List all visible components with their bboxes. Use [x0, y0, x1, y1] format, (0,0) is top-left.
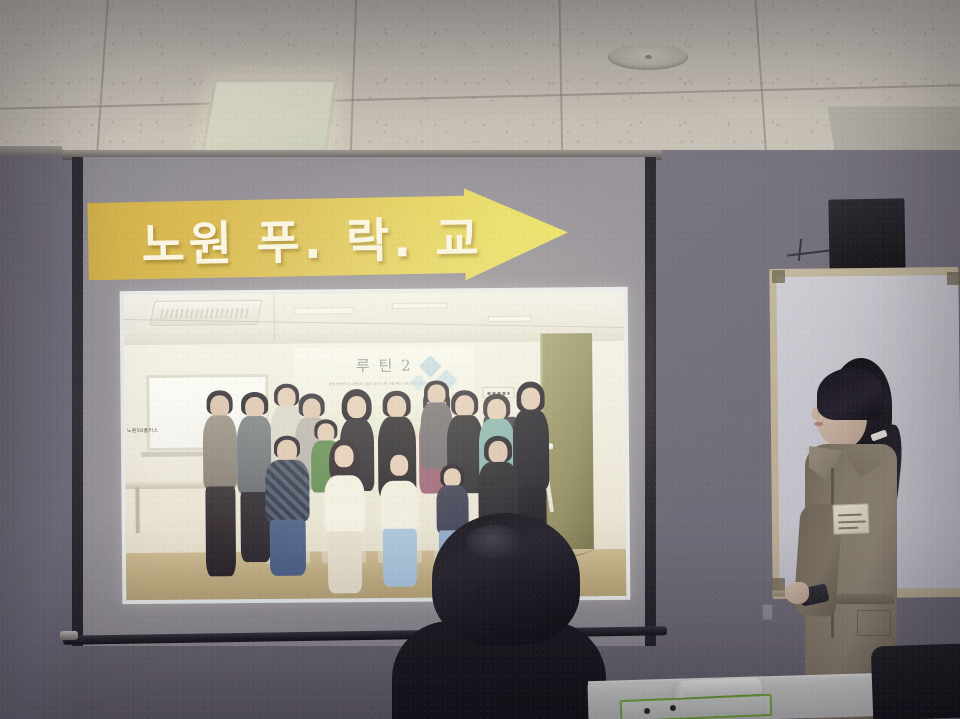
- photo-person: [203, 390, 239, 580]
- name-tag-text-line: [838, 514, 862, 517]
- photo-ceiling-lamp: [391, 302, 448, 308]
- presenter-name-tag: [832, 503, 869, 534]
- photo-ceiling-lamp: [488, 316, 533, 322]
- audience-member: [392, 513, 606, 719]
- audience-hair-highlight: [466, 525, 522, 559]
- photo-ceiling-lamp: [293, 307, 354, 315]
- screen-bar-end-cap: [60, 631, 78, 640]
- whiteboard-corner-bracket: [947, 272, 960, 285]
- presentation-room-scene: 노원 푸. 락. 교 노원50플러스 루 틴 2 함께 만들어가는 배움과 나눔…: [0, 0, 960, 719]
- name-tag-text-line: [838, 527, 858, 530]
- presenter-mouth: [814, 422, 823, 426]
- photo-air-conditioner: [149, 300, 262, 326]
- folder-clip: [670, 705, 676, 711]
- slide-title-banner: 노원 푸. 락. 교: [88, 191, 568, 283]
- ceiling-speaker-icon: [608, 44, 688, 70]
- wall-socket: [762, 604, 773, 620]
- screen-right-border: [645, 157, 656, 646]
- presenter-coat-pocket: [857, 610, 891, 636]
- screen-roller-mount: [0, 146, 62, 155]
- name-tag-text-line: [838, 520, 866, 523]
- presenter-hand: [785, 582, 809, 604]
- photo-whiteboard-label: 노원50플러스: [127, 427, 159, 434]
- photo-person: [323, 439, 366, 600]
- whiteboard-corner-bracket: [772, 270, 785, 283]
- chair-backrest: [871, 643, 960, 719]
- wall-speaker-box: [828, 198, 905, 271]
- photo-person: [265, 436, 310, 596]
- presenter-hair-front: [817, 368, 883, 420]
- photo-table-leg: [135, 487, 139, 533]
- screen-left-border: [72, 157, 83, 646]
- folder-clip: [644, 708, 650, 714]
- slide-title-text: 노원 푸. 락. 교: [131, 188, 493, 287]
